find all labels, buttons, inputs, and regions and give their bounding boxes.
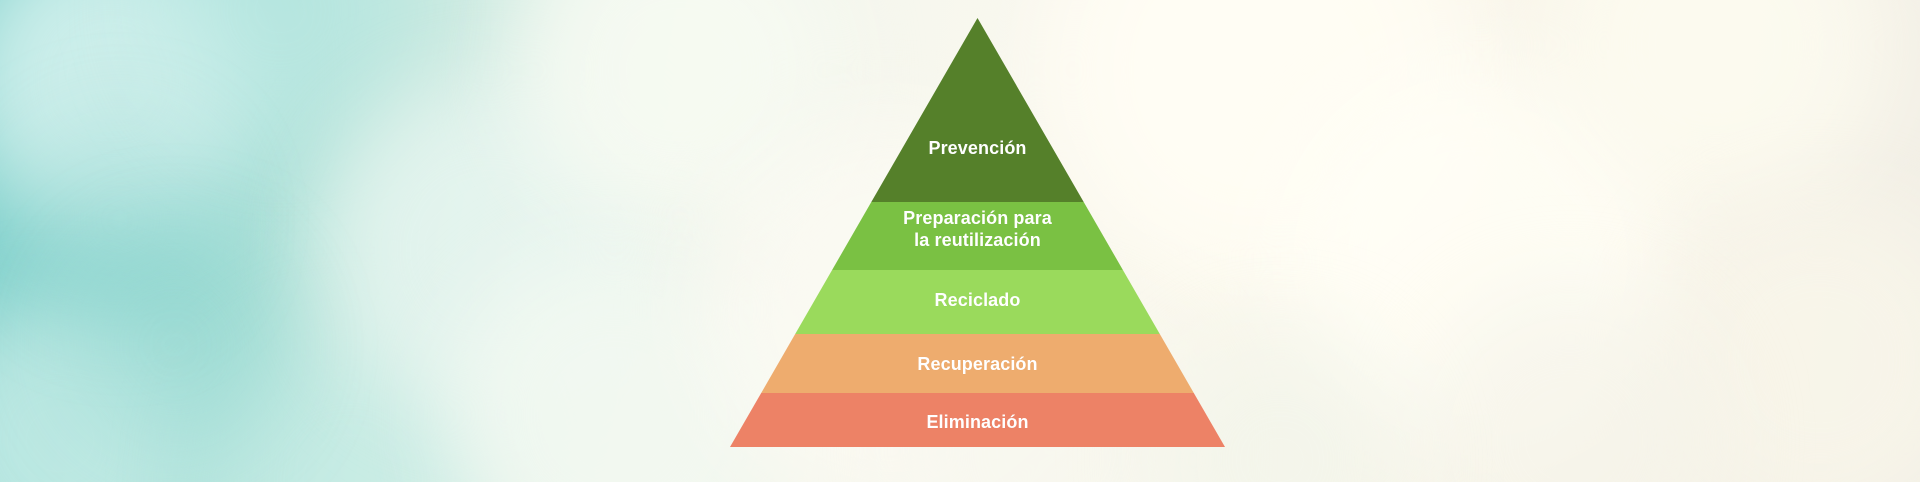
pyramid-tier-5-shape[interactable] [730,393,1225,447]
pyramid-tier-5[interactable] [0,0,1920,482]
waste-hierarchy-pyramid: Prevención Preparación para la reutiliza… [0,0,1920,482]
